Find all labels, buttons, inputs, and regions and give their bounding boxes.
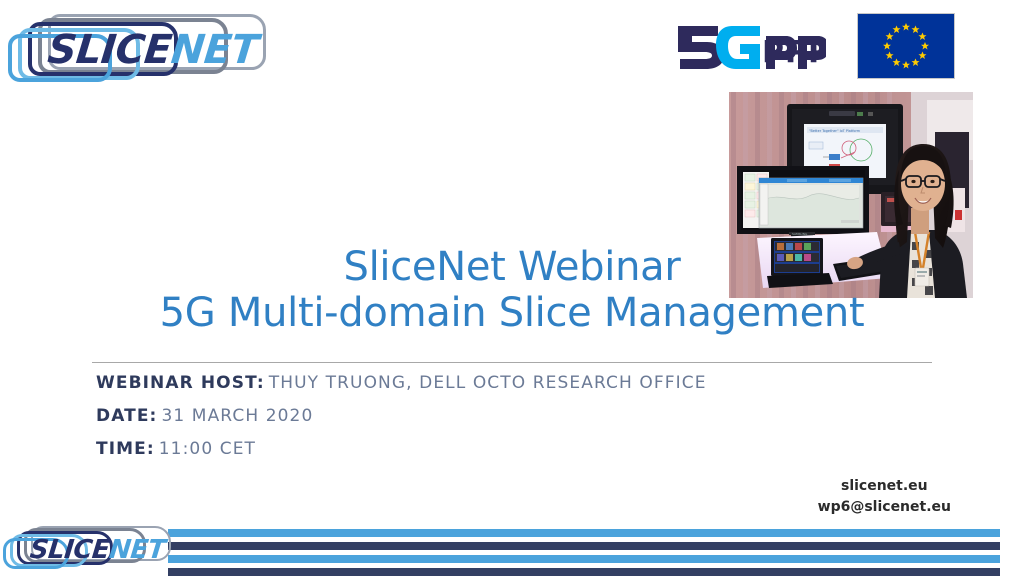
- footer-bar-3: [168, 555, 1000, 563]
- title-divider: [92, 362, 932, 363]
- detail-value-time: 11:00 CET: [159, 439, 256, 459]
- detail-value-date: 31 MARCH 2020: [161, 406, 313, 426]
- footer-bar-4: [168, 568, 1000, 576]
- detail-row-date: DATE:31 MARCH 2020: [96, 406, 956, 426]
- slicenet-logo-footer: SLICENET: [2, 524, 172, 574]
- detail-label-host: WEBINAR HOST:: [96, 373, 265, 393]
- detail-label-time: TIME:: [96, 439, 155, 459]
- 5g-ppp-text: PPP: [762, 35, 826, 70]
- webinar-announcement-slide: SLICENET PPP: [0, 0, 1024, 576]
- title-line-2: 5G Multi-domain Slice Management: [0, 290, 1024, 336]
- logo-wordmark: SLICENET: [46, 27, 261, 73]
- logo-word-net: NET: [169, 27, 260, 73]
- footer-bar-2: [168, 542, 1000, 550]
- webinar-details: WEBINAR HOST:THUY TRUONG, DELL OCTO RESE…: [96, 373, 956, 472]
- detail-label-date: DATE:: [96, 406, 157, 426]
- svg-text:"Better Together" IoT Platform: "Better Together" IoT Platform: [809, 129, 861, 133]
- svg-text:PPP: PPP: [762, 35, 826, 70]
- logo-wordmark-footer: SLICENET: [28, 535, 166, 565]
- contact-email[interactable]: wp6@slicenet.eu: [818, 497, 951, 518]
- footer-bars: [168, 529, 1000, 576]
- 5g-ppp-logo: PPP: [674, 20, 826, 70]
- contact-website[interactable]: slicenet.eu: [818, 476, 951, 497]
- title-line-1: SliceNet Webinar: [0, 244, 1024, 290]
- logo-word-slice-footer: SLICE: [28, 535, 110, 565]
- detail-row-time: TIME:11:00 CET: [96, 439, 956, 459]
- footer-bar-1: [168, 529, 1000, 537]
- contact-block: slicenet.eu wp6@slicenet.eu: [818, 476, 951, 518]
- logo-word-slice: SLICE: [46, 27, 174, 73]
- detail-value-host: THUY TRUONG, DELL OCTO RESEARCH OFFICE: [269, 373, 707, 393]
- european-union-flag: [857, 13, 955, 79]
- slide-title: SliceNet Webinar 5G Multi-domain Slice M…: [0, 244, 1024, 336]
- logo-word-net-footer: NET: [108, 535, 167, 565]
- slicenet-logo-header: SLICENET: [6, 12, 266, 90]
- detail-row-host: WEBINAR HOST:THUY TRUONG, DELL OCTO RESE…: [96, 373, 956, 393]
